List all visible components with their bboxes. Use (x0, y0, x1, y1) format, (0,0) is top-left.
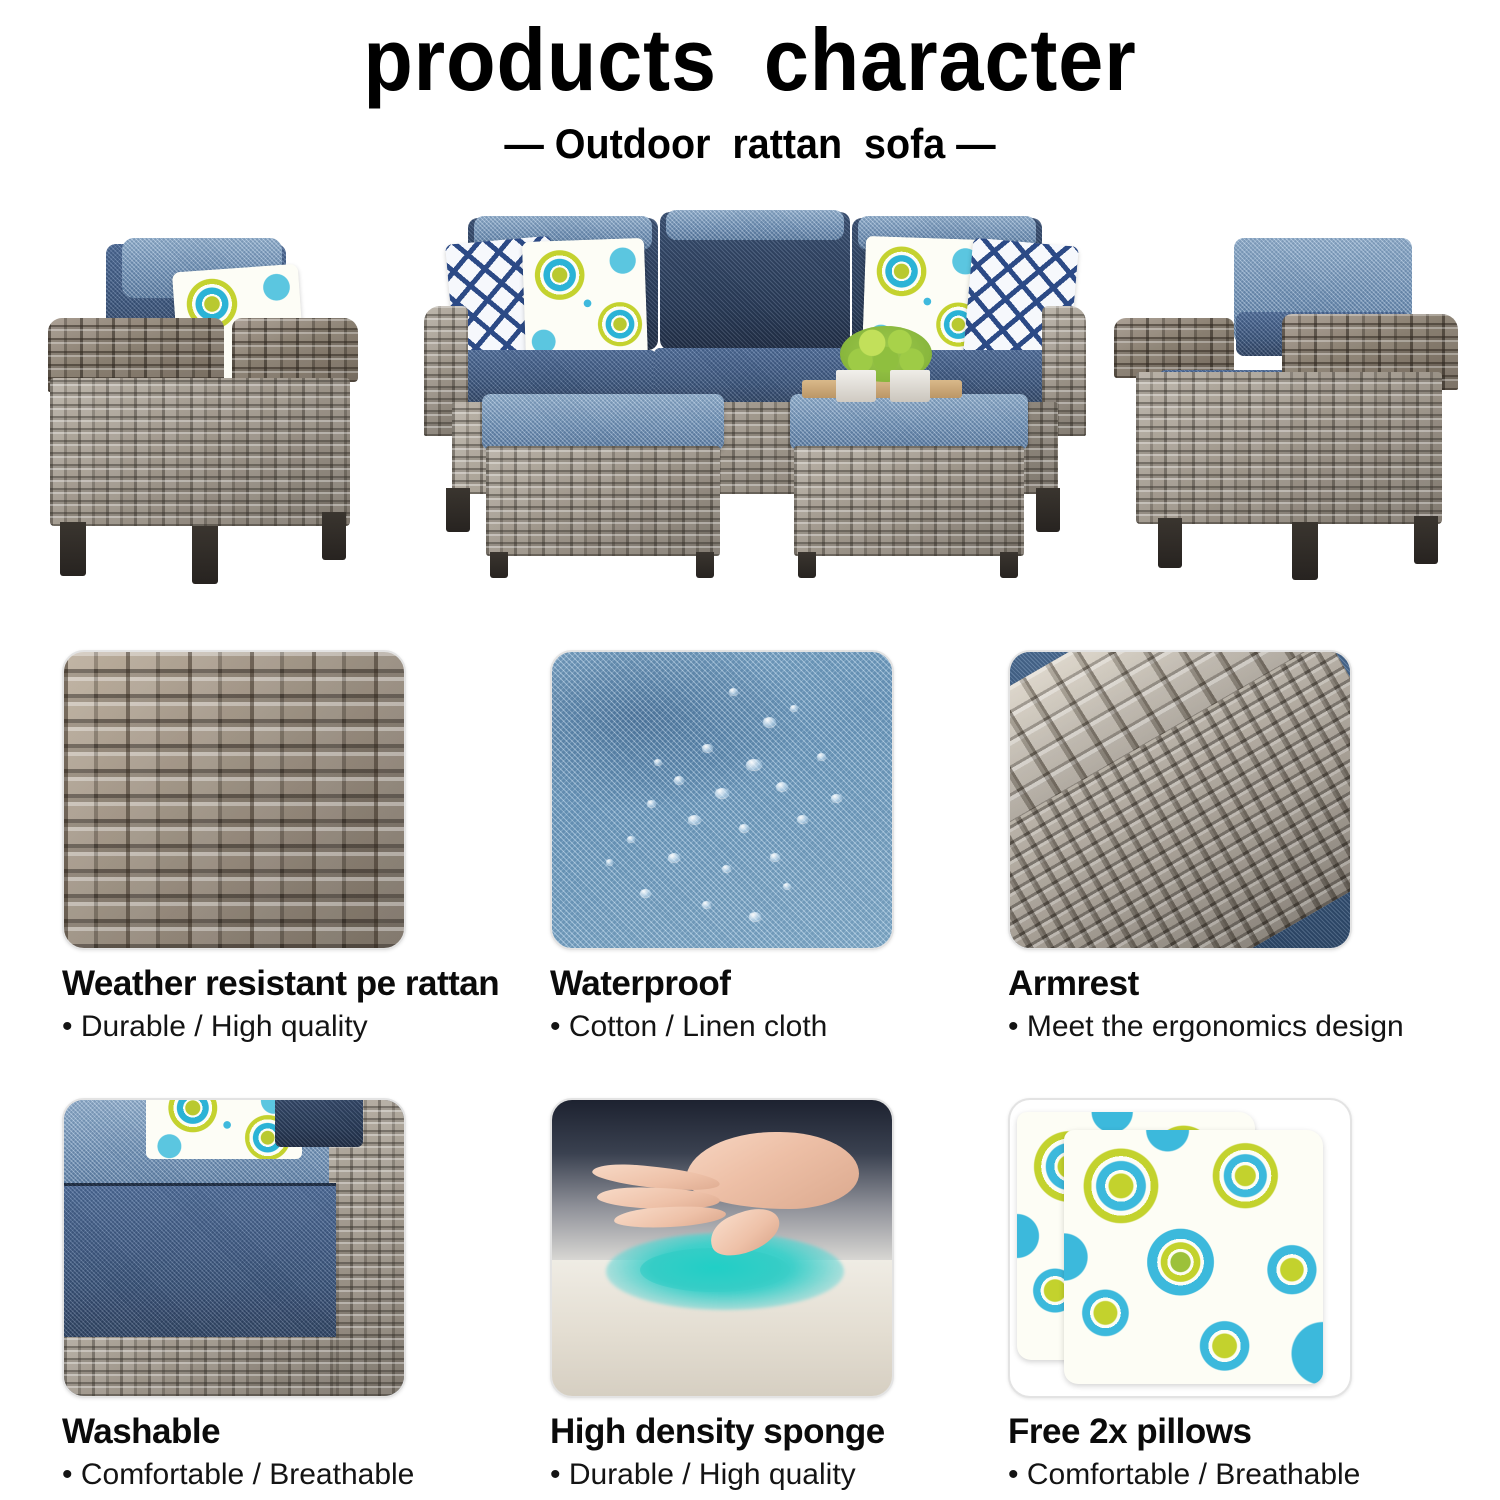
feature-row-1: Weather resistant pe rattan • Durable / … (0, 650, 1500, 1098)
page-subtitle: — Outdoor rattan sofa — (45, 120, 1455, 168)
right-armchair-leg-front-right (1292, 522, 1318, 580)
hand-graphic (586, 1130, 865, 1263)
armrest-structure (1008, 650, 1352, 950)
right-armchair-body (1136, 372, 1442, 524)
feature-row-2: Washable • Comfortable / Breathable (0, 1098, 1500, 1500)
ottoman-right-leg-2 (1000, 552, 1018, 578)
feature-thumb-woven-armrest-corner (1008, 650, 1352, 950)
feature-title: Weather resistant pe rattan (62, 964, 532, 1004)
ottoman-right-cushion (790, 394, 1028, 450)
armchair-body (50, 378, 350, 526)
ottoman-right-frame (794, 446, 1024, 556)
feature-thumb-two-suzani-pattern-pillows (1008, 1098, 1352, 1398)
sponge-scene (552, 1100, 892, 1396)
planter-pot-left (836, 370, 876, 402)
feature-title: Washable (62, 1412, 532, 1452)
feature-thumb-blue-cushion-on-wicker (62, 1098, 406, 1398)
left-armchair (44, 232, 404, 592)
feature-card-high-density-sponge[interactable]: High density sponge • Durable / High qua… (550, 1098, 1020, 1492)
pillows-scene (1010, 1100, 1350, 1396)
feature-bullet: • Cotton / Linen cloth (550, 1010, 1020, 1044)
washable-throw-pillow-secondary (275, 1098, 363, 1147)
right-armchair-leg-back-right (1414, 516, 1438, 564)
armchair-leg-back-right (322, 512, 346, 560)
hand-finger-3 (613, 1204, 725, 1230)
planter-pot-right (890, 370, 930, 402)
feature-grid: Weather resistant pe rattan • Durable / … (0, 650, 1500, 1500)
feature-card-waterproof[interactable]: Waterproof • Cotton / Linen cloth (550, 650, 1020, 1044)
washable-scene (64, 1100, 404, 1396)
feature-title: Armrest (1008, 964, 1478, 1004)
feature-title: Free 2x pillows (1008, 1412, 1478, 1452)
right-armchair-leg-front-left (1158, 518, 1182, 568)
feature-thumb-rattan-weave-closeup (62, 650, 406, 950)
ottoman-left-cushion (482, 394, 724, 450)
page-title: products character (60, 14, 1440, 106)
feature-bullet: • Durable / High quality (550, 1458, 1020, 1492)
feature-bullet: • Durable / High quality (62, 1010, 532, 1044)
ottoman-right (786, 394, 1032, 580)
feature-thumb-blue-fabric-water-droplets (550, 650, 894, 950)
feature-card-free-2x-pillows[interactable]: Free 2x pillows • Comfortable / Breathab… (1008, 1098, 1478, 1492)
water-droplets-overlay (552, 652, 892, 948)
ottoman-left-leg-2 (696, 552, 714, 578)
feature-title: High density sponge (550, 1412, 1020, 1452)
ottoman-left (478, 394, 728, 580)
ottoman-right-leg-1 (798, 552, 816, 578)
feature-bullet: • Comfortable / Breathable (62, 1458, 532, 1492)
feature-bullet: • Comfortable / Breathable (1008, 1458, 1478, 1492)
pillow-front (1064, 1130, 1322, 1385)
header: products character — Outdoor rattan sofa… (0, 0, 1500, 168)
sofa-leg-left (446, 488, 470, 532)
hero-product-image (0, 198, 1500, 618)
ottoman-left-frame (486, 446, 720, 556)
sofa-pillow-medallion-left (522, 238, 648, 364)
armchair-leg-front-right (192, 526, 218, 584)
feature-card-weather-resistant-pe-rattan[interactable]: Weather resistant pe rattan • Durable / … (62, 650, 532, 1044)
feature-card-armrest[interactable]: Armrest • Meet the ergonomics design (1008, 650, 1478, 1044)
sofa-leg-right (1036, 488, 1060, 532)
infographic-page: products character — Outdoor rattan sofa… (0, 0, 1500, 1500)
feature-card-washable[interactable]: Washable • Comfortable / Breathable (62, 1098, 532, 1492)
feature-bullet: • Meet the ergonomics design (1008, 1010, 1478, 1044)
washable-cushion-main (64, 1183, 336, 1337)
armchair-leg-front-left (60, 522, 86, 576)
armchair-right-arm (232, 318, 358, 382)
right-armchair-left-arm (1114, 318, 1234, 378)
right-armchair (1096, 230, 1466, 592)
sofa-back-cushion-2-highlight (666, 210, 844, 240)
ottoman-left-leg-1 (490, 552, 508, 578)
feature-thumb-hand-pressing-memory-foam (550, 1098, 894, 1398)
feature-title: Waterproof (550, 964, 1020, 1004)
